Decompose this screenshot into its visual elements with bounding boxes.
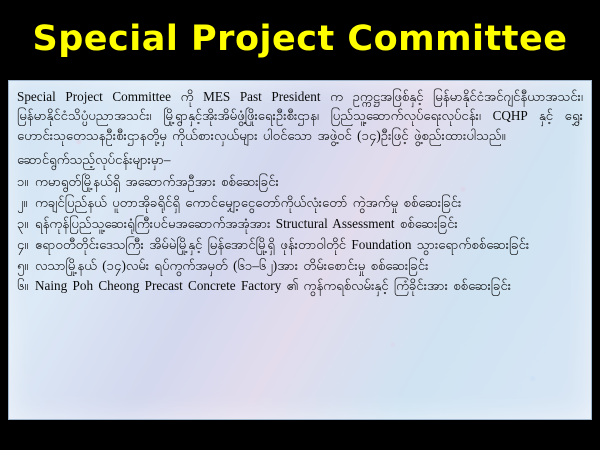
list-item-number: ၆။ bbox=[17, 276, 35, 296]
list-item-text: Naing Poh Cheong Precast Concrete Factor… bbox=[35, 276, 583, 296]
list-item-number: ၄။ bbox=[17, 235, 35, 255]
list-item: ၅။ လသာမြို့နယ် (၁၄)လမ်း ရပ်ကွက်အမှတ် (၆၁… bbox=[17, 256, 583, 276]
list-item: ၂။ ကချင်ပြည်နယ် ပူတာအိုခရိုင်ရှိ ကောင်မျ… bbox=[17, 193, 583, 213]
list-item-text: ကချင်ပြည်နယ် ပူတာအိုခရိုင်ရှိ ကောင်မျှော… bbox=[35, 193, 583, 213]
list-item-number: ၂။ bbox=[17, 193, 35, 213]
presentation-slide: Special Project Committee Special Projec… bbox=[0, 0, 600, 450]
list-item-text: ဧရာဝတီတိုင်းဒေသကြီး အိမ်မဲမြို့နှင့် မြန… bbox=[35, 235, 583, 255]
list-item: ၄။ ဧရာဝတီတိုင်းဒေသကြီး အိမ်မဲမြို့နှင့် … bbox=[17, 235, 583, 255]
intro-paragraph: Special Project Committee ကို MES Past P… bbox=[17, 87, 583, 145]
list-item-text: ရန်ကုန်ပြည်သူ့ဆေးရုံကြီးပင်မအဆောက်အအုံအာ… bbox=[35, 214, 583, 234]
page-title: Special Project Committee bbox=[32, 19, 567, 59]
list-item-number: ၅။ bbox=[17, 256, 35, 276]
list-item-text: လသာမြို့နယ် (၁၄)လမ်း ရပ်ကွက်အမှတ် (၆၁–၆၂… bbox=[35, 256, 583, 276]
slide-content-panel: Special Project Committee ကို MES Past P… bbox=[8, 80, 592, 420]
section-subheading: ဆောင်ရွက်သည့်လုပ်ငန်းများမှာ– bbox=[17, 150, 583, 169]
list-item: ၆။ Naing Poh Cheong Precast Concrete Fac… bbox=[17, 276, 583, 296]
list-item-number: ၁။ bbox=[17, 172, 35, 192]
list-item: ၁။ ကမာရွတ်မြို့နယ်ရှိ အဆောက်အဦအား စစ်ဆေး… bbox=[17, 172, 583, 192]
list-item-number: ၃။ bbox=[17, 214, 35, 234]
list-item-text: ကမာရွတ်မြို့နယ်ရှိ အဆောက်အဦအား စစ်ဆေးခြင… bbox=[35, 172, 583, 192]
slide-title-bar: Special Project Committee bbox=[0, 0, 600, 78]
list-item: ၃။ ရန်ကုန်ပြည်သူ့ဆေးရုံကြီးပင်မအဆောက်အအု… bbox=[17, 214, 583, 234]
